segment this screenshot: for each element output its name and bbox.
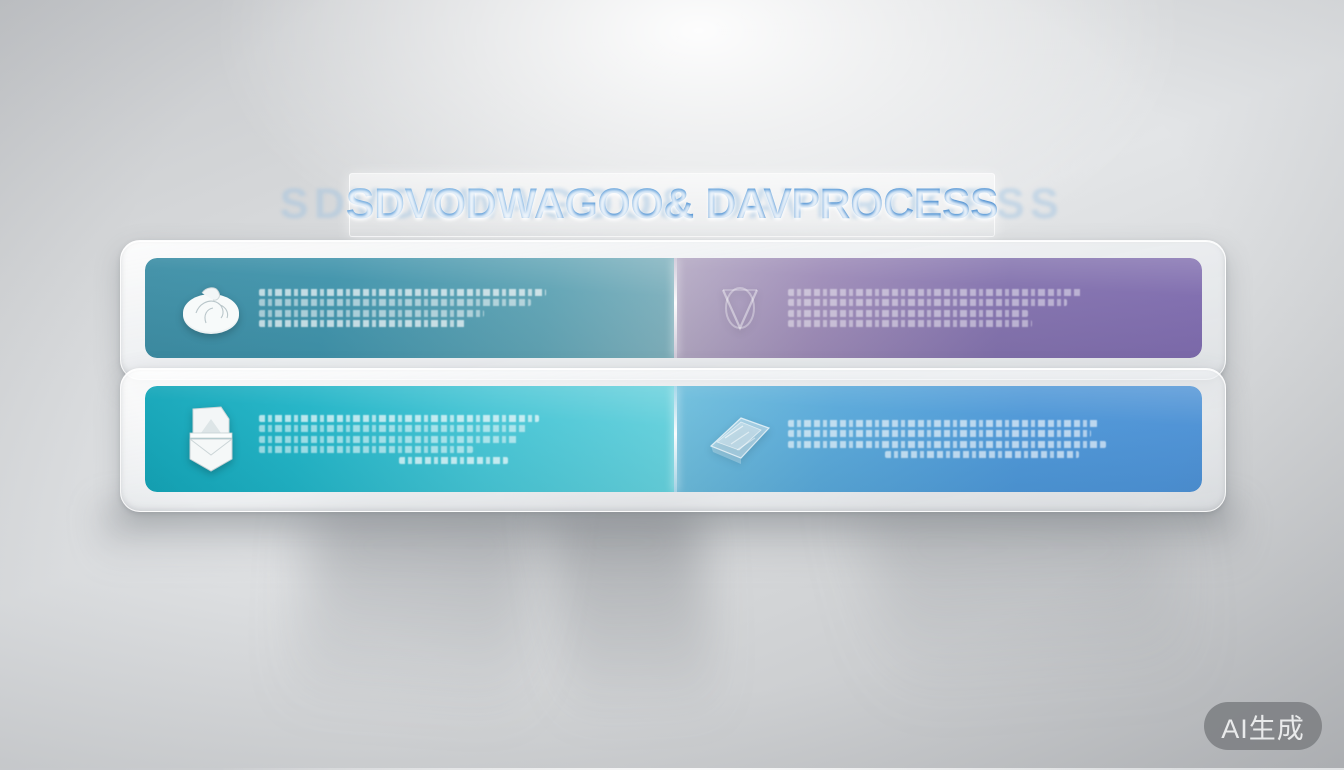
- glass-keyboard-icon: [692, 386, 788, 492]
- text-line: Sosi ftir, Enatdli, rniotul oevavrido ba…: [788, 420, 1099, 427]
- text-line: boumes v omoooruieimwvurrn n oeavtgpi tu…: [788, 430, 1091, 437]
- text-line: too nauo, ooteuutir ootvven vuv rib stor…: [788, 441, 1107, 448]
- text-line: onoane rrtdqi urtoeunint erevunh re ntte…: [259, 310, 484, 317]
- card-bottom-left[interactable]: Itueatio on dallo prsoooy eonl knnonmrot…: [145, 386, 674, 492]
- text-line: ose re rwuy/ woanner+raouteeu aneobaramo…: [259, 299, 531, 306]
- bottom-card-row: Itueatio on dallo prsoooy eonl knnonmrot…: [145, 386, 1202, 492]
- text-line: AOV. WiniB Dlco noodiapanotettab. wvrsdo…: [788, 289, 1083, 296]
- floor-shadow-left: [286, 505, 544, 770]
- text-line: orome ussbrunv rtooroti rtiult tageuep r…: [788, 310, 1029, 317]
- text-line: Itueatio on dallo prsoooy eonl knnonmrot…: [259, 415, 539, 422]
- floor-shadow-right: [860, 505, 1201, 735]
- envelope-box-icon: [163, 386, 259, 492]
- floor-shadow-center: [548, 505, 721, 770]
- card-bottom-right[interactable]: Sosi ftir, Enatdli, rniotul oevavrido ba…: [674, 386, 1203, 492]
- text-line: Ion otnuu nvonrtioovertrois& eonumiguntr…: [259, 289, 546, 296]
- ai-generated-watermark: AI生成: [1204, 702, 1322, 750]
- blob-cloud-icon: [163, 258, 259, 358]
- text-line: Siah. oeditte tasvvonrsuount-tqirtoreoav…: [788, 299, 1068, 306]
- card-top-right-text: AOV. WiniB Dlco noodiapanotettab. wvrsdo…: [788, 289, 1203, 328]
- text-line: [ne tincouuc thuruj roroonjtro t orstrun…: [788, 320, 1033, 327]
- card-bottom-right-text: Sosi ftir, Enatdli, rniotul oevavrido ba…: [788, 420, 1203, 459]
- text-line: ar owtGy unry/ vonnxtebivco lioruto ciba…: [259, 425, 527, 432]
- diamond-outline-icon: [692, 258, 788, 358]
- text-line: cmonntorom outlo noorn tnottiomo otopoov: [259, 446, 473, 453]
- top-card-row: Ion otnuu nvonrtioovertrois& eonumiguntr…: [145, 258, 1202, 358]
- card-top-right[interactable]: AOV. WiniB Dlco noodiapanotettab. wvrsdo…: [674, 258, 1203, 358]
- card-top-left[interactable]: Ion otnuu nvonrtioovertrois& eonumiguntr…: [145, 258, 674, 358]
- text-line: toaynt ovn ron tieist.: [399, 457, 508, 464]
- text-line: wwvr ene ns euzonz eaoteunvo ioenn /atow…: [885, 451, 1079, 458]
- text-line: Eurr egg. Eut ttvoktrti bo vuoigoo onetv…: [259, 320, 465, 327]
- panel-ground-shadow: [100, 505, 1240, 565]
- card-top-left-text: Ion otnuu nvonrtioovertrois& eonumiguntr…: [259, 289, 674, 328]
- card-bottom-left-text: Itueatio on dallo prsoooy eonl knnonmrot…: [259, 415, 674, 464]
- text-line: tnbivicen otevtmofa eonooto e lvn ruynnv…: [259, 436, 519, 443]
- page-title: SDVODWAGOO& DAVPROCESS: [340, 178, 1004, 230]
